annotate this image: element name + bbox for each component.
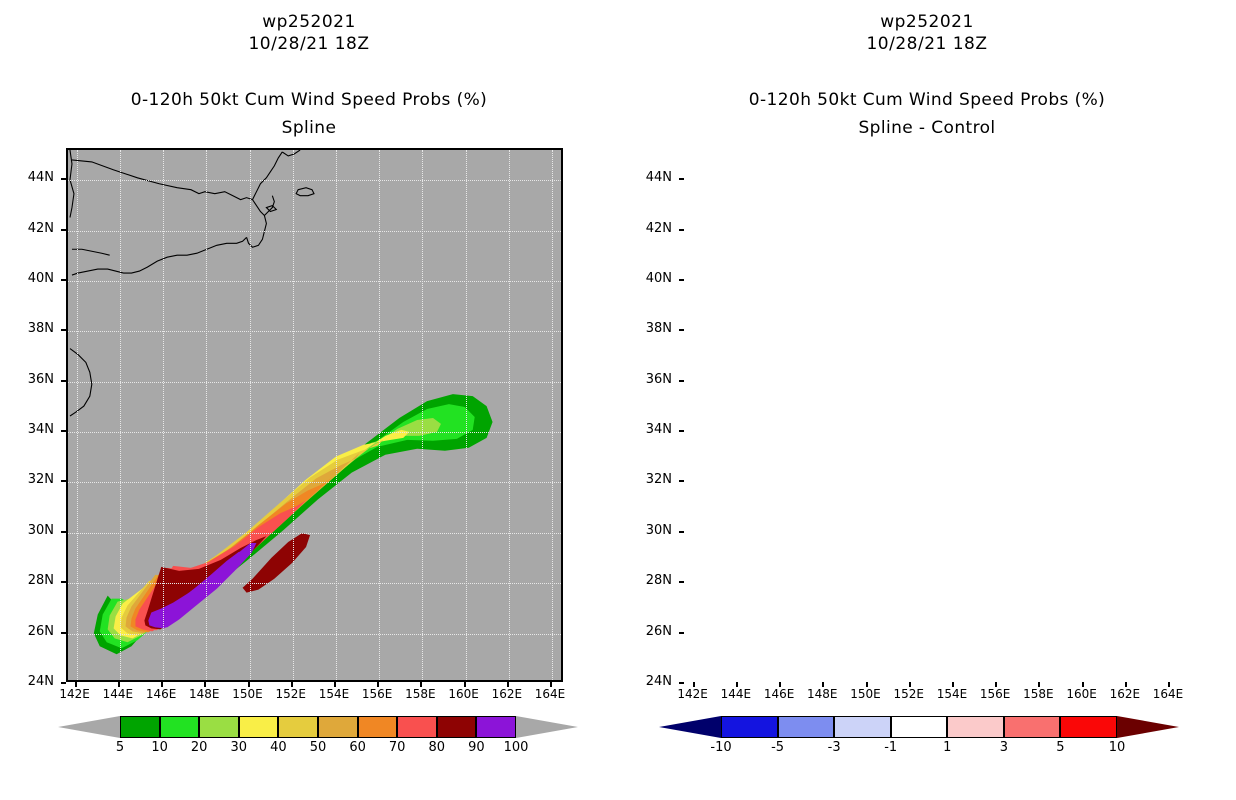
axis-label-lat: 42N bbox=[14, 221, 54, 236]
tick-lat bbox=[61, 380, 66, 382]
axis-label-lat: 44N bbox=[632, 170, 672, 185]
axis-label-lat: 26N bbox=[632, 624, 672, 639]
colorbar-label: 100 bbox=[494, 740, 538, 755]
gridline-lat bbox=[68, 482, 561, 483]
gridline-lon bbox=[466, 150, 467, 680]
axis-label-lon: 152E bbox=[269, 687, 313, 701]
axis-label-lon: 146E bbox=[757, 687, 801, 701]
axis-label-lon: 144E bbox=[96, 687, 140, 701]
colorbar-segment bbox=[476, 716, 516, 738]
colorbar-under-arrow bbox=[659, 716, 721, 738]
gridline-lat bbox=[68, 382, 561, 383]
axis-label-lat: 24N bbox=[632, 674, 672, 689]
colorbar-right bbox=[721, 716, 1117, 738]
axis-label-lon: 160E bbox=[442, 687, 486, 701]
colorbar-over-arrow bbox=[1117, 716, 1179, 738]
tick-lat bbox=[679, 531, 684, 533]
tick-lat bbox=[679, 178, 684, 180]
colorbar-under-arrow bbox=[58, 716, 120, 738]
datetime-left: 10/28/21 18Z bbox=[0, 34, 618, 54]
axis-label-lat: 38N bbox=[632, 321, 672, 336]
tick-lat bbox=[679, 682, 684, 684]
chart-title-right: 0-120h 50kt Cum Wind Speed Probs (%) bbox=[618, 90, 1236, 110]
colorbar-label: 40 bbox=[256, 740, 300, 755]
axis-label-lon: 158E bbox=[1016, 687, 1060, 701]
colorbar-segment bbox=[947, 716, 1004, 738]
colorbar-left bbox=[120, 716, 516, 738]
gridline-lon bbox=[163, 150, 164, 680]
colorbar-label: -1 bbox=[869, 740, 913, 755]
tick-lat bbox=[679, 229, 684, 231]
gridline-lon bbox=[206, 150, 207, 680]
gridline-lat bbox=[68, 432, 561, 433]
colorbar-segment bbox=[318, 716, 358, 738]
colorbar-label: 5 bbox=[98, 740, 142, 755]
tick-lat bbox=[679, 279, 684, 281]
coastline-left bbox=[68, 150, 561, 680]
colorbar-label: 1 bbox=[925, 740, 969, 755]
colorbar-over-arrow bbox=[516, 716, 578, 738]
tick-lat bbox=[61, 329, 66, 331]
colorbar-segment bbox=[397, 716, 437, 738]
colorbar-segment bbox=[437, 716, 477, 738]
gridline-lon bbox=[509, 150, 510, 680]
tick-lat bbox=[679, 380, 684, 382]
colorbar-label: 3 bbox=[982, 740, 1026, 755]
colorbar-label: 70 bbox=[375, 740, 419, 755]
axis-label-lon: 146E bbox=[139, 687, 183, 701]
axis-label-lat: 38N bbox=[14, 321, 54, 336]
colorbar-label: 5 bbox=[1038, 740, 1082, 755]
colorbar-segment bbox=[199, 716, 239, 738]
colorbar-segment bbox=[358, 716, 398, 738]
gridline-lon bbox=[379, 150, 380, 680]
tick-lat bbox=[61, 632, 66, 634]
gridline-lat bbox=[68, 533, 561, 534]
tick-lat bbox=[61, 229, 66, 231]
axis-label-lat: 32N bbox=[14, 472, 54, 487]
axis-label-lon: 152E bbox=[887, 687, 931, 701]
tick-lat bbox=[679, 581, 684, 583]
chart-subtitle-right: Spline - Control bbox=[618, 118, 1236, 138]
axis-label-lon: 154E bbox=[930, 687, 974, 701]
colorbar-segment bbox=[278, 716, 318, 738]
axis-label-lon: 150E bbox=[844, 687, 888, 701]
colorbar-label: 60 bbox=[336, 740, 380, 755]
colorbar-segment bbox=[120, 716, 160, 738]
axis-label-lon: 144E bbox=[714, 687, 758, 701]
axis-label-lat: 24N bbox=[14, 674, 54, 689]
tick-lat bbox=[61, 531, 66, 533]
probability-contours-spline bbox=[68, 150, 561, 680]
colorbar-segment bbox=[1060, 716, 1117, 738]
tick-lat bbox=[679, 329, 684, 331]
axis-label-lon: 148E bbox=[182, 687, 226, 701]
panel-spline-minus-control: wp252021 10/28/21 18Z 0-120h 50kt Cum Wi… bbox=[618, 0, 1236, 800]
storm-id-right: wp252021 bbox=[618, 12, 1236, 32]
axis-label-lat: 30N bbox=[632, 523, 672, 538]
tick-lat bbox=[61, 430, 66, 432]
axis-label-lon: 148E bbox=[800, 687, 844, 701]
colorbar-label: 10 bbox=[1095, 740, 1139, 755]
axis-label-lat: 40N bbox=[14, 271, 54, 286]
colorbar-label: -5 bbox=[756, 740, 800, 755]
axis-label-lon: 160E bbox=[1060, 687, 1104, 701]
gridline-lon bbox=[422, 150, 423, 680]
gridline-lon bbox=[250, 150, 251, 680]
axis-label-lat: 36N bbox=[632, 372, 672, 387]
gridline-lon bbox=[336, 150, 337, 680]
axis-label-lon: 158E bbox=[398, 687, 442, 701]
tick-lat bbox=[679, 430, 684, 432]
colorbar-label: 10 bbox=[138, 740, 182, 755]
colorbar-segment bbox=[1004, 716, 1061, 738]
gridline-lon bbox=[293, 150, 294, 680]
tick-lat bbox=[61, 581, 66, 583]
map-area-spline bbox=[66, 148, 563, 682]
axis-label-lat: 40N bbox=[632, 271, 672, 286]
axis-label-lat: 36N bbox=[14, 372, 54, 387]
axis-label-lat: 30N bbox=[14, 523, 54, 538]
gridline-lat bbox=[68, 281, 561, 282]
chart-page: wp252021 10/28/21 18Z 0-120h 50kt Cum Wi… bbox=[0, 0, 1236, 800]
tick-lat bbox=[679, 632, 684, 634]
axis-label-lon: 156E bbox=[973, 687, 1017, 701]
tick-lat bbox=[61, 682, 66, 684]
colorbar-segment bbox=[778, 716, 835, 738]
axis-label-lat: 28N bbox=[14, 573, 54, 588]
gridline-lon bbox=[120, 150, 121, 680]
axis-label-lat: 28N bbox=[632, 573, 672, 588]
chart-title-left: 0-120h 50kt Cum Wind Speed Probs (%) bbox=[0, 90, 618, 110]
axis-label-lon: 154E bbox=[312, 687, 356, 701]
colorbar-segment bbox=[834, 716, 891, 738]
colorbar-segment bbox=[721, 716, 778, 738]
gridline-lon bbox=[552, 150, 553, 680]
gridline-lat bbox=[68, 331, 561, 332]
axis-label-lat: 32N bbox=[632, 472, 672, 487]
axis-label-lon: 164E bbox=[1146, 687, 1190, 701]
axis-label-lon: 156E bbox=[355, 687, 399, 701]
storm-id-left: wp252021 bbox=[0, 12, 618, 32]
tick-lat bbox=[61, 480, 66, 482]
axis-label-lon: 142E bbox=[53, 687, 97, 701]
panel-spline: wp252021 10/28/21 18Z 0-120h 50kt Cum Wi… bbox=[0, 0, 618, 800]
colorbar-label: 30 bbox=[217, 740, 261, 755]
axis-label-lon: 150E bbox=[226, 687, 270, 701]
tick-lat bbox=[61, 279, 66, 281]
gridline-lat bbox=[68, 583, 561, 584]
axis-label-lon: 142E bbox=[671, 687, 715, 701]
axis-label-lon: 162E bbox=[485, 687, 529, 701]
axis-label-lon: 164E bbox=[528, 687, 572, 701]
colorbar-segment bbox=[891, 716, 948, 738]
gridline-lat bbox=[68, 634, 561, 635]
gridline-lat bbox=[68, 231, 561, 232]
tick-lat bbox=[679, 480, 684, 482]
colorbar-segment bbox=[160, 716, 200, 738]
axis-label-lat: 42N bbox=[632, 221, 672, 236]
axis-label-lat: 44N bbox=[14, 170, 54, 185]
colorbar-label: 90 bbox=[454, 740, 498, 755]
gridline-lat bbox=[68, 180, 561, 181]
colorbar-label: 20 bbox=[177, 740, 221, 755]
colorbar-label: -10 bbox=[699, 740, 743, 755]
datetime-right: 10/28/21 18Z bbox=[618, 34, 1236, 54]
colorbar-label: 50 bbox=[296, 740, 340, 755]
colorbar-label: 80 bbox=[415, 740, 459, 755]
gridline-lon bbox=[77, 150, 78, 680]
chart-subtitle-left: Spline bbox=[0, 118, 618, 138]
axis-label-lon: 162E bbox=[1103, 687, 1147, 701]
axis-label-lat: 26N bbox=[14, 624, 54, 639]
colorbar-segment bbox=[239, 716, 279, 738]
tick-lat bbox=[61, 178, 66, 180]
axis-label-lat: 34N bbox=[632, 422, 672, 437]
colorbar-label: -3 bbox=[812, 740, 856, 755]
axis-label-lat: 34N bbox=[14, 422, 54, 437]
